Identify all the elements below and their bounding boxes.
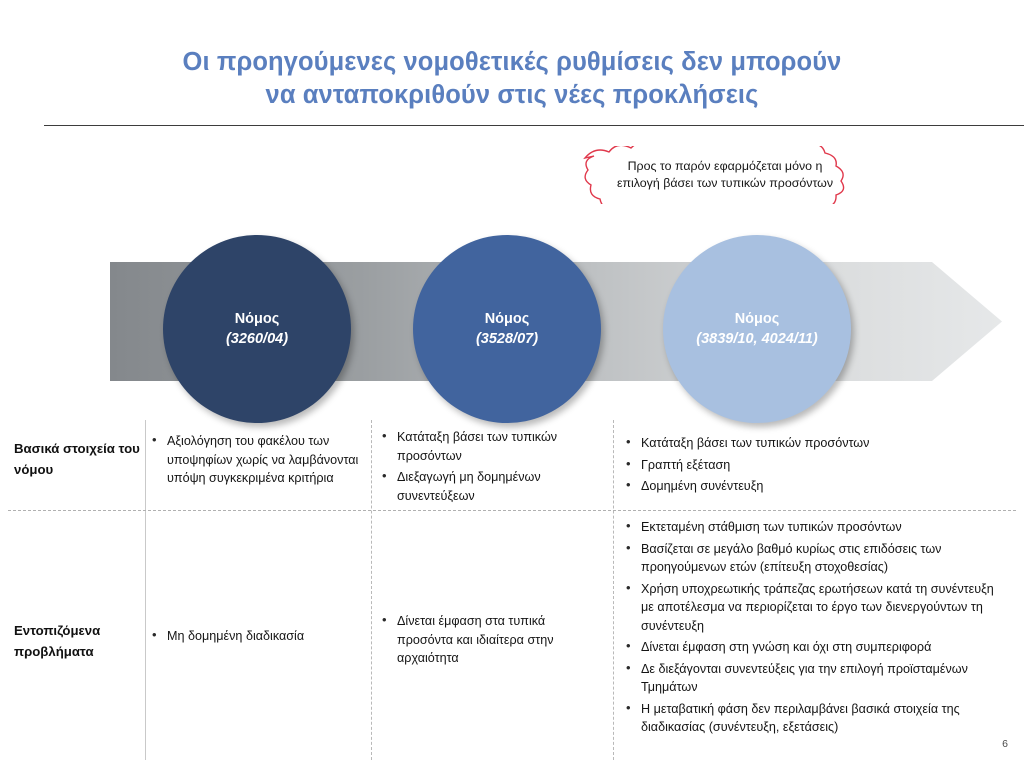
law-circle-name: Νόμος bbox=[735, 309, 780, 329]
bullet-list: Αξιολόγηση του φακέλου των υποψηφίων χωρ… bbox=[152, 432, 360, 488]
list-item: Χρήση υποχρεωτικής τράπεζας ερωτήσεων κα… bbox=[626, 580, 1008, 636]
list-item: Βασίζεται σε μεγάλο βαθμό κυρίως στις επ… bbox=[626, 540, 1008, 577]
law-circle-3839-10-4024-11[interactable]: Νόμος (3839/10, 4024/11) bbox=[663, 235, 851, 423]
law-circle-name: Νόμος bbox=[235, 309, 280, 329]
matrix-cell-r2c3: Εκτεταμένη στάθμιση των τυπικών προσόντω… bbox=[626, 518, 1008, 740]
list-item: Δίνεται έμφαση στα τυπικά προσόντα και ι… bbox=[382, 612, 604, 668]
callout-text: Προς το παρόν εφαρμόζεται μόνο η επιλογή… bbox=[579, 158, 871, 192]
list-item: Εκτεταμένη στάθμιση των τυπικών προσόντω… bbox=[626, 518, 1008, 537]
slide-canvas: Οι προηγούμενες νομοθετικές ρυθμίσεις δε… bbox=[0, 0, 1024, 768]
matrix-cell-r2c2: Δίνεται έμφαση στα τυπικά προσόντα και ι… bbox=[382, 612, 604, 671]
list-item: Μη δομημένη διαδικασία bbox=[152, 627, 360, 646]
list-item: Αξιολόγηση του φακέλου των υποψηφίων χωρ… bbox=[152, 432, 360, 488]
row-label-identified-problems: Εντοπιζόμενα προβλήματα bbox=[14, 620, 140, 662]
matrix-divider-row1-row2 bbox=[8, 510, 1016, 511]
page-title: Οι προηγούμενες νομοθετικές ρυθμίσεις δε… bbox=[0, 46, 1024, 112]
list-item: Η μεταβατική φάση δεν περιλαμβάνει βασικ… bbox=[626, 700, 1008, 737]
law-circle-number: (3260/04) bbox=[226, 329, 288, 350]
matrix-divider-col2-col3 bbox=[613, 420, 614, 760]
comparison-matrix: Βασικά στοιχεία του νόμου Εντοπιζόμενα π… bbox=[0, 420, 1024, 768]
bullet-list: Κατάταξη βάσει των τυπικών προσόντων Διε… bbox=[382, 428, 604, 505]
law-circle-3260-04[interactable]: Νόμος (3260/04) bbox=[163, 235, 351, 423]
bullet-list: Δίνεται έμφαση στα τυπικά προσόντα και ι… bbox=[382, 612, 604, 668]
matrix-cell-r1c2: Κατάταξη βάσει των τυπικών προσόντων Διε… bbox=[382, 428, 604, 508]
list-item: Διεξαγωγή μη δομημένων συνεντεύξεων bbox=[382, 468, 604, 505]
title-line-2: να ανταποκριθούν στις νέες προκλήσεις bbox=[0, 79, 1024, 112]
row-label-basic-elements: Βασικά στοιχεία του νόμου bbox=[14, 438, 140, 480]
callout-line-2: επιλογή βάσει των τυπικών προσόντων bbox=[579, 175, 871, 192]
matrix-divider-left bbox=[145, 420, 146, 760]
law-circle-3528-07[interactable]: Νόμος (3528/07) bbox=[413, 235, 601, 423]
law-circle-number: (3839/10, 4024/11) bbox=[696, 329, 817, 350]
law-circle-number: (3528/07) bbox=[476, 329, 538, 350]
list-item: Γραπτή εξέταση bbox=[626, 456, 1008, 475]
list-item: Δίνεται έμφαση στη γνώση και όχι στη συμ… bbox=[626, 638, 1008, 657]
list-item: Δομημένη συνέντευξη bbox=[626, 477, 1008, 496]
matrix-cell-r2c1: Μη δομημένη διαδικασία bbox=[152, 627, 360, 649]
list-item: Κατάταξη βάσει των τυπικών προσόντων bbox=[626, 434, 1008, 453]
bullet-list: Κατάταξη βάσει των τυπικών προσόντων Γρα… bbox=[626, 434, 1008, 496]
cloud-callout: Προς το παρόν εφαρμόζεται μόνο η επιλογή… bbox=[545, 146, 905, 204]
bullet-list: Εκτεταμένη στάθμιση των τυπικών προσόντω… bbox=[626, 518, 1008, 737]
matrix-cell-r1c1: Αξιολόγηση του φακέλου των υποψηφίων χωρ… bbox=[152, 432, 360, 491]
callout-line-1: Προς το παρόν εφαρμόζεται μόνο η bbox=[579, 158, 871, 175]
list-item: Δε διεξάγονται συνεντεύξεις για την επιλ… bbox=[626, 660, 1008, 697]
law-circle-name: Νόμος bbox=[485, 309, 530, 329]
matrix-divider-col1-col2 bbox=[371, 420, 372, 760]
title-divider-rule bbox=[44, 125, 1024, 126]
matrix-cell-r1c3: Κατάταξη βάσει των τυπικών προσόντων Γρα… bbox=[626, 434, 1008, 499]
title-line-1: Οι προηγούμενες νομοθετικές ρυθμίσεις δε… bbox=[0, 46, 1024, 79]
bullet-list: Μη δομημένη διαδικασία bbox=[152, 627, 360, 646]
page-number: 6 bbox=[1002, 738, 1008, 750]
list-item: Κατάταξη βάσει των τυπικών προσόντων bbox=[382, 428, 604, 465]
